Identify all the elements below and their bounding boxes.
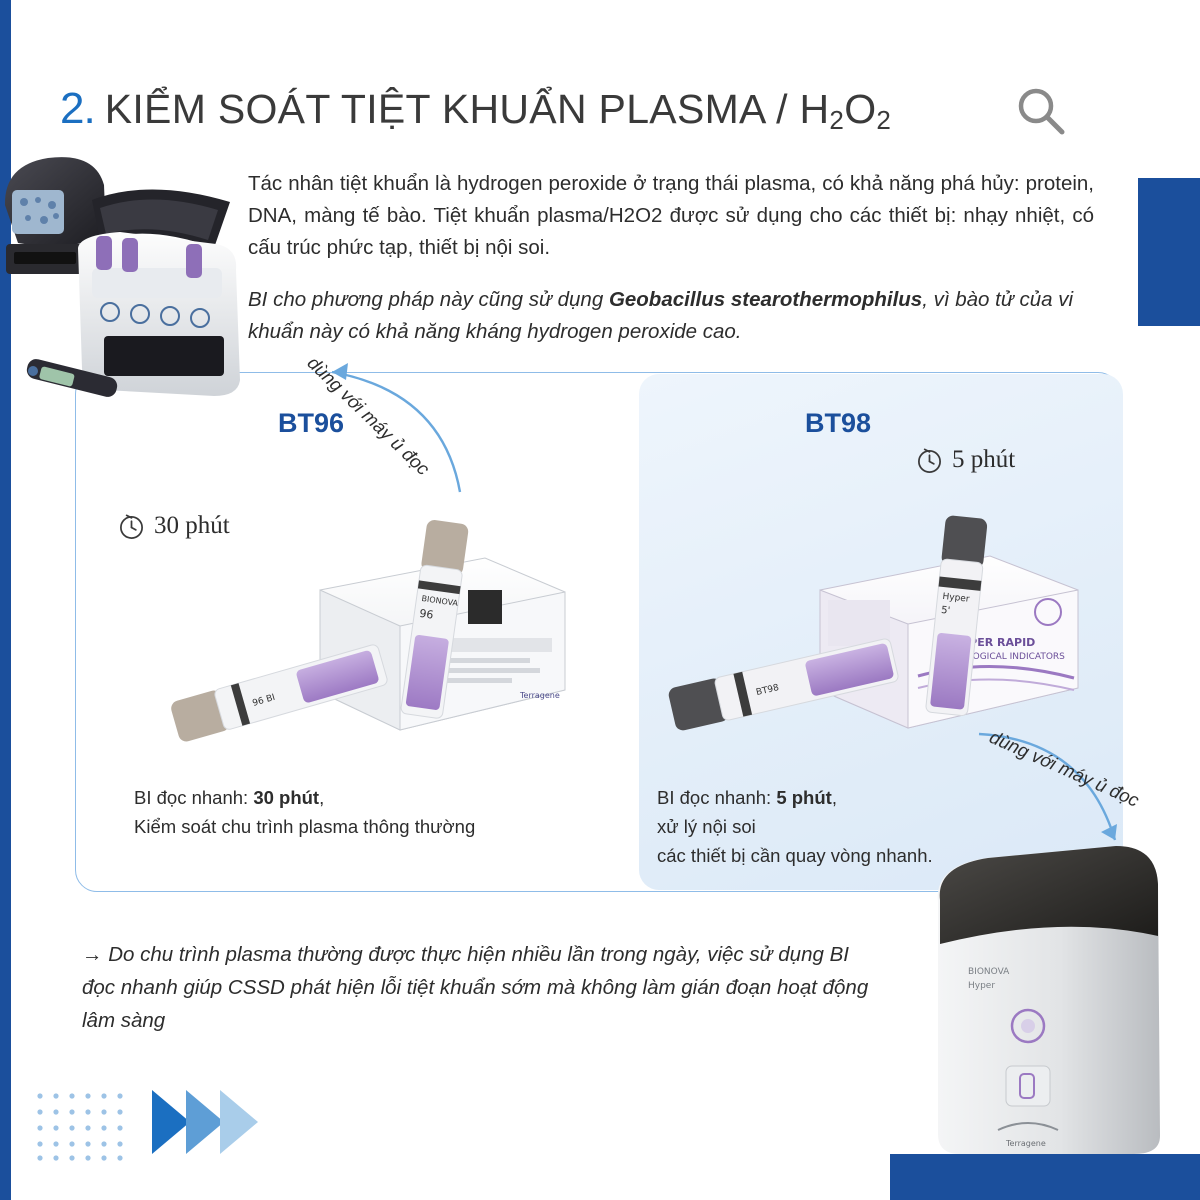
bt96-caption-line2: Kiểm soát chu trình plasma thông thường [134, 816, 475, 837]
bt96-caption: BI đọc nhanh: 30 phút, Kiểm soát chu trì… [134, 783, 554, 841]
search-icon [1015, 86, 1067, 138]
right-accent-block-top [1138, 178, 1200, 326]
footer-note: → Do chu trình plasma thường được thực h… [82, 938, 872, 1037]
section-title: KIỂM SOÁT TIỆT KHUẨN PLASMA / H2O2 [105, 86, 891, 133]
svg-text:BIONOVA: BIONOVA [968, 967, 1010, 977]
svg-text:Terragene: Terragene [1005, 1139, 1046, 1148]
bt96-caption-time: 30 phút [253, 787, 319, 808]
handheld-scanner-image [20, 350, 130, 410]
right-accent-block-bottom [890, 1154, 1200, 1200]
intro-paragraph: Tác nhân tiệt khuẩn là hydrogen peroxide… [248, 168, 1094, 264]
bt98-caption-line2: xử lý nội soi [657, 816, 756, 837]
bt98-caption-line3: các thiết bị cần quay vòng nhanh. [657, 845, 933, 866]
section-number: 2. [60, 84, 95, 134]
page-title: 2. KIỂM SOÁT TIỆT KHUẨN PLASMA / H2O2 [60, 78, 891, 140]
svg-text:Terragene: Terragene [519, 691, 560, 700]
chevron-decoration [150, 1082, 260, 1162]
svg-text:96: 96 [419, 607, 435, 622]
dot-grid-decoration [36, 1092, 136, 1162]
svg-text:5': 5' [941, 605, 951, 617]
organism-name: Geobacillus stearothermophilus [609, 288, 922, 311]
bi-note-paragraph: BI cho phương pháp này cũng sử dụng Geob… [248, 284, 1078, 348]
bt98-caption-time: 5 phút [776, 787, 832, 808]
svg-text:Hyper: Hyper [968, 981, 995, 991]
clock-icon [118, 513, 145, 540]
hyper-reader-image: BIONOVA Hyper Terragene [920, 840, 1170, 1160]
product-title-bt98: BT98 [805, 408, 871, 439]
